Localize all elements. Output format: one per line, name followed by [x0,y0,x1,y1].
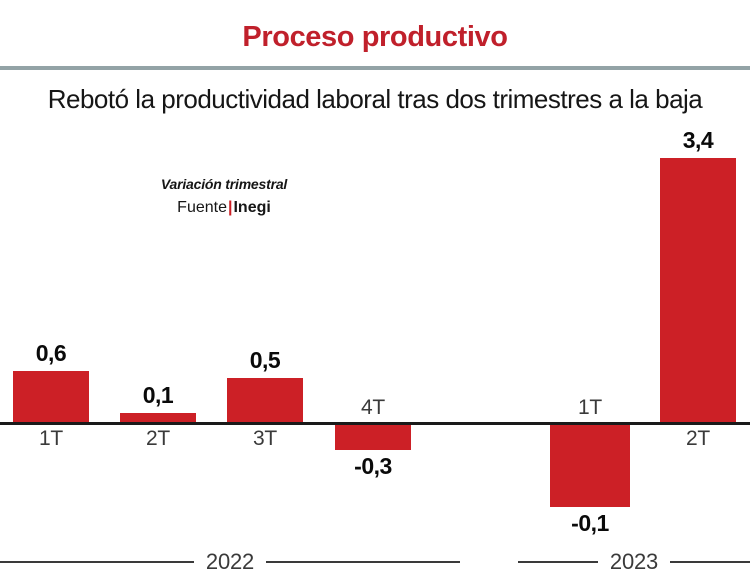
bar-chart-plot: 0,61T0,12T0,53T-0,34T-0,11T3,42T [0,0,750,588]
year-bracket-line-right [670,561,750,563]
zero-axis-line [0,422,750,425]
category-label-2022-4T: 4T [313,396,433,420]
bar-value-label: -0,3 [313,453,433,479]
bar-2023-2T [660,158,736,422]
category-label-2022-2T: 2T [98,427,218,451]
bar-value-label: 0,5 [205,347,325,373]
bar-2022-2T [120,413,196,422]
year-label: 2022 [194,550,266,574]
chart-page: Proceso productivo Rebotó la productivid… [0,0,750,588]
year-bracket-line-left [518,561,598,563]
category-label-2022-1T: 1T [0,427,111,451]
year-bracket-2023: 2023 [518,548,750,576]
bar-2023-1T [550,425,630,507]
bar-2022-1T [13,371,89,422]
bar-2022-4T [335,425,411,450]
bar-value-label: -0,1 [528,510,652,536]
category-label-2023-2T: 2T [638,427,750,451]
year-bracket-2022: 2022 [0,548,460,576]
category-label-2022-3T: 3T [205,427,325,451]
year-bracket-line-left [0,561,194,563]
year-bracket-line-right [266,561,460,563]
bar-2022-3T [227,378,303,422]
bar-value-label: 0,1 [98,382,218,408]
bar-value-label: 3,4 [638,127,750,153]
year-label: 2023 [598,550,670,574]
bar-value-label: 0,6 [0,340,111,366]
category-label-2023-1T: 1T [528,396,652,420]
